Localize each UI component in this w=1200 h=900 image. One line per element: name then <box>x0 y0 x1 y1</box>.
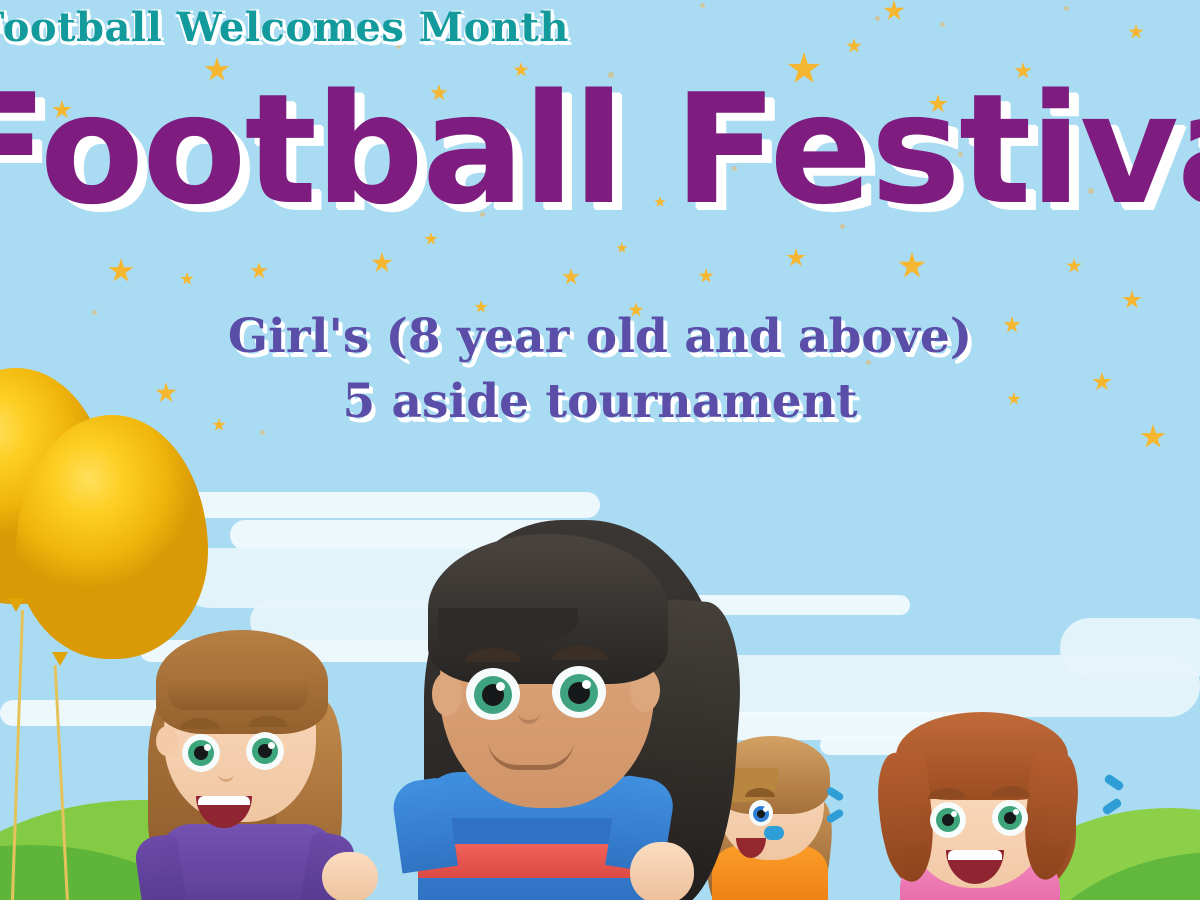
football-festival-poster: Football Welcomes Month Football Festiva… <box>0 0 1200 900</box>
forearm-right <box>630 842 694 900</box>
page-title: Football Festival <box>0 74 1200 226</box>
eye-glint-left <box>763 807 768 812</box>
cloud-band-1 <box>160 492 600 518</box>
cloud-band-8 <box>1060 618 1200 678</box>
subtitle-line-1: Girl's (8 year old and above) <box>0 312 1200 361</box>
eye-glint-right <box>1013 809 1019 815</box>
star-dot <box>260 430 265 435</box>
hair-tie-right <box>764 826 784 840</box>
hair-bangs <box>168 676 308 710</box>
star-dot <box>875 16 880 21</box>
kicker-text: Football Welcomes Month <box>0 4 569 51</box>
eye-glint-right <box>268 742 275 749</box>
hand-right <box>322 852 378 900</box>
eye-glint-left <box>951 811 957 817</box>
subtitle-line-2: 5 aside tournament <box>0 377 1200 426</box>
teeth <box>948 850 1002 860</box>
eye-glint-right <box>582 680 591 689</box>
star-dot <box>940 22 945 27</box>
eye-glint-left <box>496 682 505 691</box>
star-dot <box>700 3 705 8</box>
ear-left <box>156 726 178 756</box>
eye-glint-left <box>204 744 211 751</box>
teeth <box>198 796 250 805</box>
star-dot <box>1064 6 1069 11</box>
